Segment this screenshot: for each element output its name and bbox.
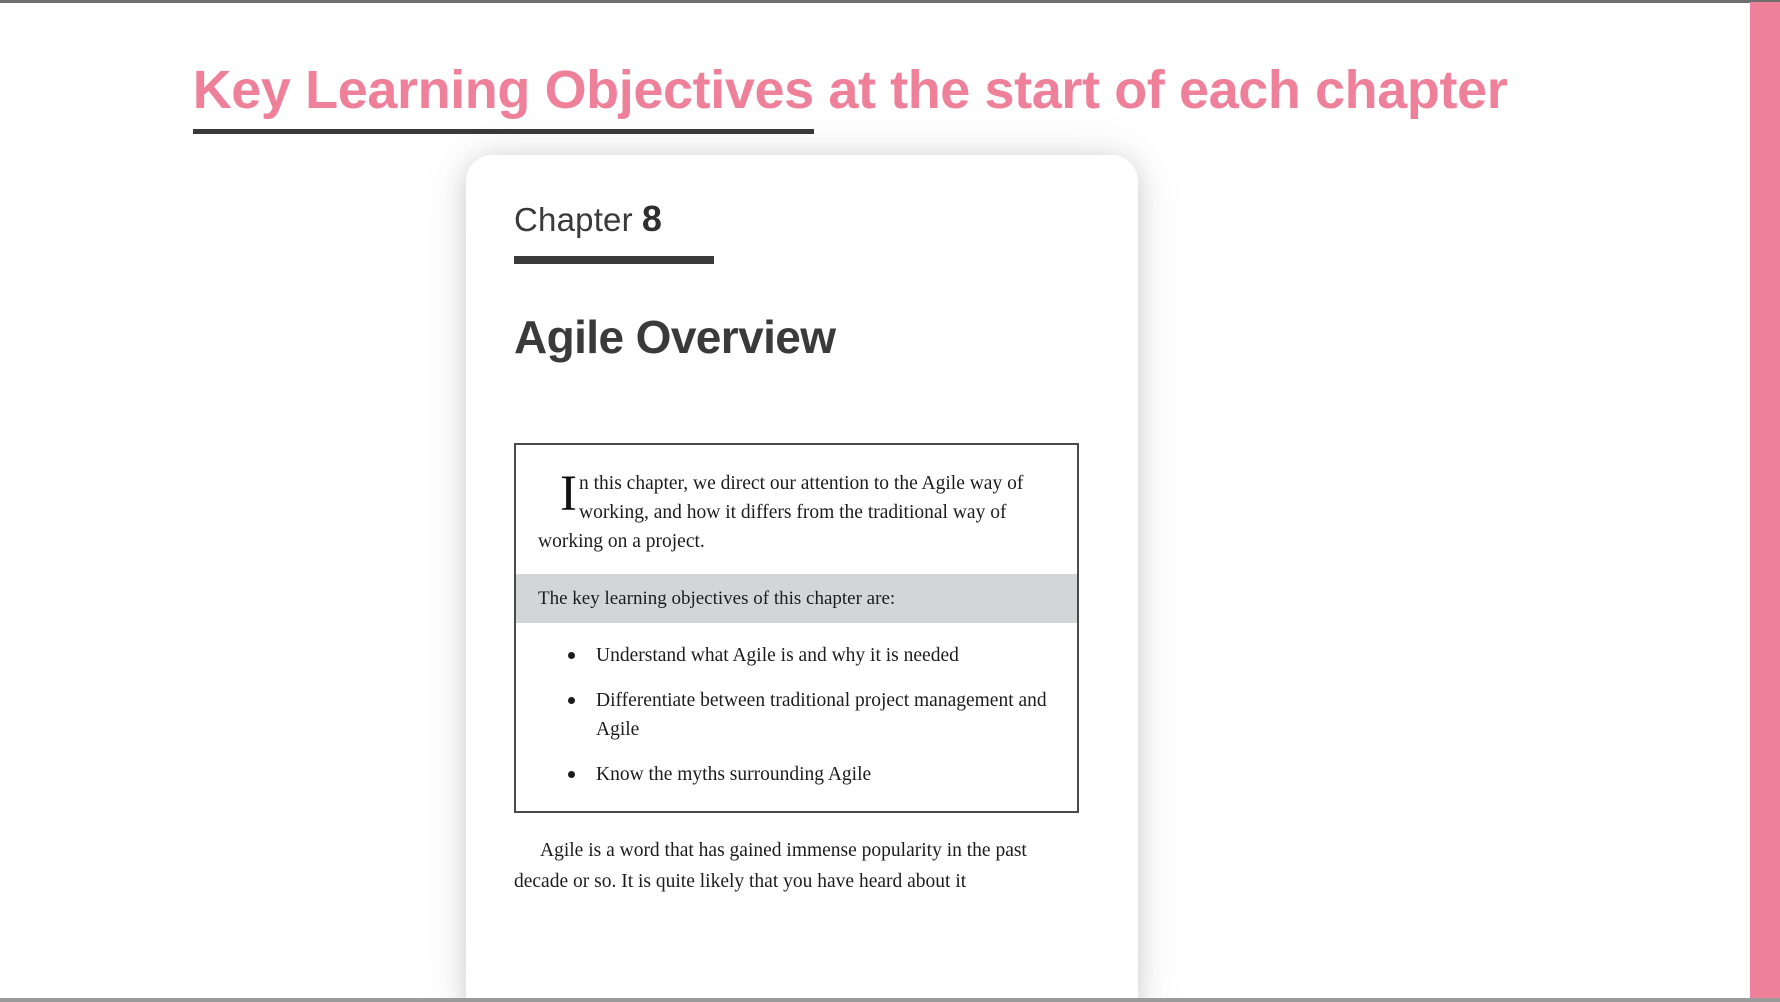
- objectives-list: Understand what Agile is and why it is n…: [516, 623, 1077, 811]
- objective-text: Know the myths surrounding Agile: [596, 764, 871, 785]
- slide-canvas: Key Learning Objectives at the start of …: [0, 0, 1780, 1002]
- list-item: Know the myths surrounding Agile: [568, 760, 1047, 789]
- slide-accent-sidebar: [1750, 2, 1780, 998]
- list-item: Understand what Agile is and why it is n…: [568, 641, 1047, 670]
- chapter-intro-paragraph: In this chapter, we direct our attention…: [516, 445, 1077, 574]
- slide-heading-rest: at the start of each chapter: [814, 60, 1508, 120]
- key-learning-objectives-box: In this chapter, we direct our attention…: [514, 443, 1079, 813]
- slide-heading-emphasis: Key Learning Objectives: [193, 60, 814, 134]
- objective-text: Differentiate between traditional projec…: [596, 690, 1047, 740]
- objectives-lead-in: The key learning objectives of this chap…: [516, 574, 1077, 623]
- chapter-label: Chapter: [514, 201, 633, 238]
- book-page-content: Chapter8 Agile Overview In this chapter,…: [514, 155, 1090, 1002]
- bullet-icon: [568, 652, 575, 659]
- chapter-heading: Chapter8: [514, 198, 714, 264]
- bullet-icon: [568, 771, 575, 778]
- slide-top-border: [0, 0, 1780, 3]
- objective-text: Understand what Agile is and why it is n…: [596, 645, 959, 666]
- bullet-icon: [568, 697, 575, 704]
- chapter-title: Agile Overview: [514, 310, 835, 364]
- chapter-body-paragraph: Agile is a word that has gained immense …: [514, 835, 1079, 897]
- list-item: Differentiate between traditional projec…: [568, 686, 1047, 744]
- drop-cap-letter: I: [538, 469, 579, 515]
- chapter-intro-text: n this chapter, we direct our attention …: [538, 473, 1023, 552]
- slide-bottom-border: [0, 998, 1780, 1002]
- slide-heading: Key Learning Objectives at the start of …: [0, 58, 1700, 123]
- chapter-number: 8: [642, 198, 662, 239]
- book-page-card: Chapter8 Agile Overview In this chapter,…: [466, 155, 1138, 1002]
